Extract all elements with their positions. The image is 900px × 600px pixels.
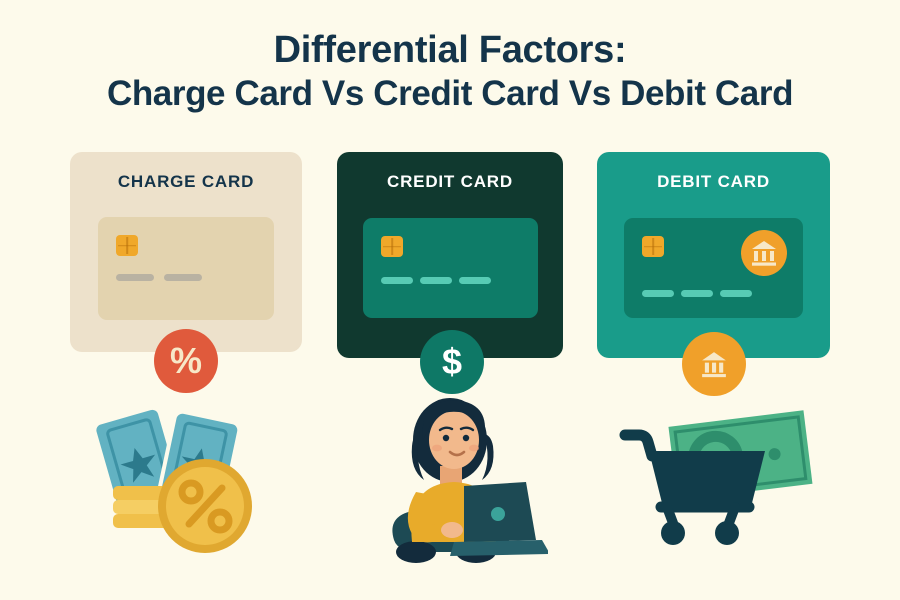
shopping-cart-with-banknote-illustration	[615, 405, 820, 560]
page-title: Differential Factors: Charge Card Vs Cre…	[0, 28, 900, 116]
dollar-badge: $	[420, 330, 484, 394]
chip-icon	[381, 236, 403, 257]
dollar-badge-glyph: $	[442, 344, 462, 380]
card-number-dash	[116, 274, 154, 281]
card-number-dash	[720, 290, 752, 297]
panel-charge-card[interactable]: CHARGE CARD	[70, 152, 302, 352]
charge-card-graphic	[98, 217, 274, 320]
chip-icon	[642, 236, 664, 257]
debit-card-graphic	[624, 218, 803, 318]
credit-card-graphic	[363, 218, 538, 318]
card-number-dash	[381, 277, 413, 284]
panel-label-charge-card: CHARGE CARD	[70, 172, 302, 192]
percent-badge: %	[154, 329, 218, 393]
percent-badge-glyph: %	[170, 343, 202, 379]
card-number-dash	[642, 290, 674, 297]
card-number-dash	[164, 274, 202, 281]
chip-icon	[116, 235, 138, 256]
woman-with-laptop-illustration	[368, 390, 548, 580]
bank-emblem-icon	[741, 230, 787, 276]
card-number-dash	[420, 277, 452, 284]
title-line-1: Differential Factors:	[0, 28, 900, 73]
poster-canvas: Differential Factors: Charge Card Vs Cre…	[0, 0, 900, 600]
card-number-dash	[681, 290, 713, 297]
card-number-dash	[459, 277, 491, 284]
panel-label-debit-card: DEBIT CARD	[597, 172, 830, 192]
panel-debit-card[interactable]: DEBIT CARD	[597, 152, 830, 358]
title-line-2: Charge Card Vs Credit Card Vs Debit Card	[0, 73, 900, 116]
panel-credit-card[interactable]: CREDIT CARD	[337, 152, 563, 358]
panel-label-credit-card: CREDIT CARD	[337, 172, 563, 192]
coupons-and-discount-coins-illustration	[85, 390, 285, 565]
illustrations-row	[0, 390, 900, 580]
bank-badge	[682, 332, 746, 396]
